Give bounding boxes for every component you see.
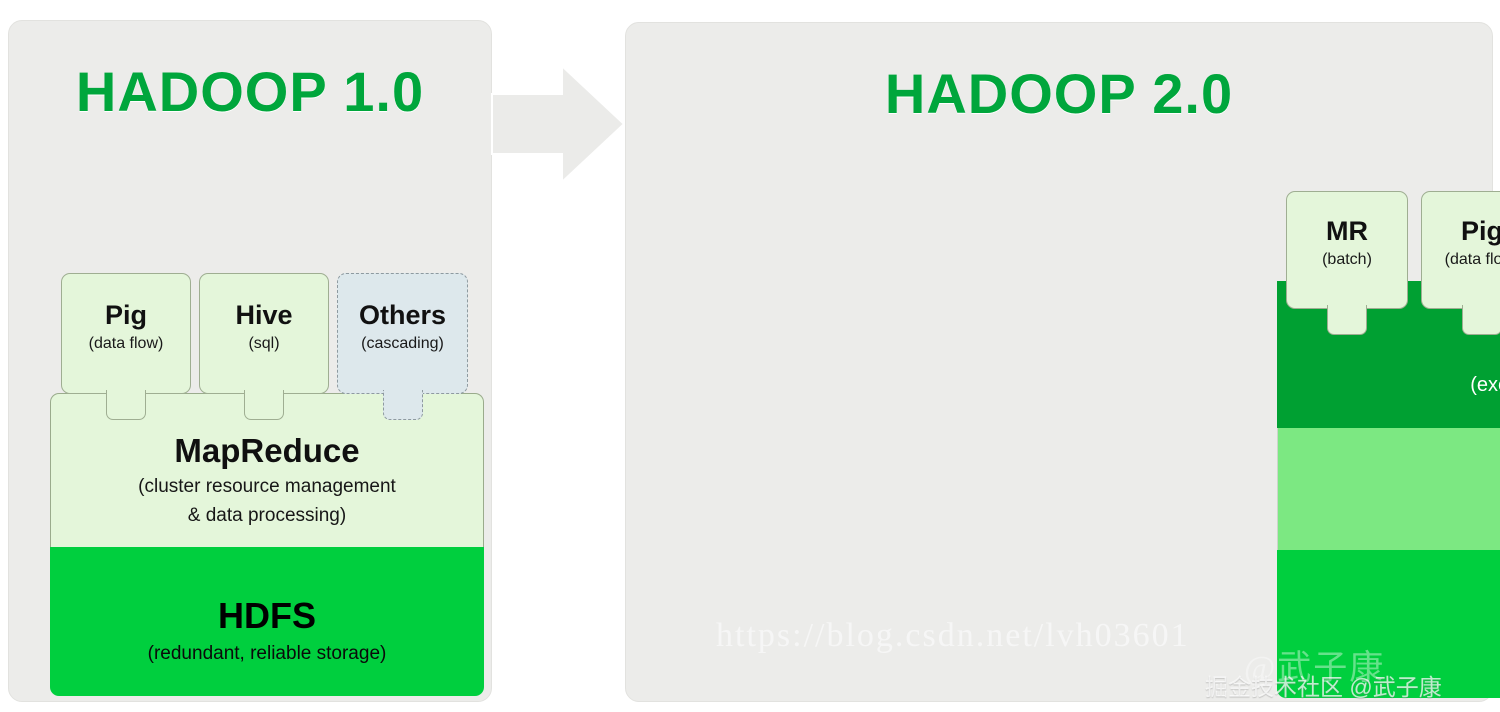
nub-mask bbox=[384, 391, 422, 395]
tile-mr-sub: (batch) bbox=[1287, 251, 1407, 269]
tile-pig-v1-sub: (data flow) bbox=[62, 335, 190, 353]
mapreduce-label: MapReduce bbox=[51, 434, 483, 469]
tile-others-v1-sub: (cascading) bbox=[338, 335, 467, 353]
hdfs-sub: (redundant, reliable storage) bbox=[50, 643, 484, 665]
hadoop-1-panel: HADOOP 1.0 MapReduce (cluster resource m… bbox=[8, 20, 492, 702]
diagram-canvas: HADOOP 1.0 MapReduce (cluster resource m… bbox=[0, 0, 1500, 712]
hadoop-2-panel: HADOOP 2.0 Tez (execution engine) YARN (… bbox=[625, 22, 1493, 702]
hdfs-label: HDFS bbox=[50, 597, 484, 635]
tile-hive-v1: Hive (sql) bbox=[199, 273, 329, 394]
tile-mr: MR (batch) bbox=[1286, 191, 1408, 309]
hadoop-1-title: HADOOP 1.0 bbox=[9, 59, 491, 124]
hadoop-2-title: HADOOP 2.0 bbox=[626, 61, 1492, 126]
tile-mr-name: MR bbox=[1287, 218, 1407, 245]
yarn-sub: (cluster resource management) bbox=[1278, 500, 1500, 524]
tile-pig-v1: Pig (data flow) bbox=[61, 273, 191, 394]
tez-sub: (execution engine) bbox=[1277, 374, 1500, 398]
mapreduce-sub-line2: & data processing) bbox=[51, 505, 483, 527]
hdfs2-label: HDFS2 bbox=[1277, 600, 1500, 638]
tile-others-v1: Others (cascading) bbox=[337, 273, 468, 394]
hdfs2-sub: (redundant, reliable storage) bbox=[1277, 646, 1500, 670]
tile-pig-v2-sub: (data flow) bbox=[1422, 251, 1500, 269]
nub-mask bbox=[245, 391, 283, 395]
right-arrow-icon bbox=[488, 60, 628, 188]
nub-mask bbox=[107, 391, 145, 395]
tile-hive-v1-name: Hive bbox=[200, 302, 328, 329]
tile-pig-v2: Pig (data flow) bbox=[1421, 191, 1500, 309]
yarn-label: YARN bbox=[1278, 454, 1500, 492]
layer-hdfs2: HDFS2 (redundant, reliable storage) bbox=[1277, 550, 1500, 698]
tile-pig-v1-name: Pig bbox=[62, 302, 190, 329]
nub-mask bbox=[1328, 306, 1366, 310]
layer-hdfs: HDFS (redundant, reliable storage) bbox=[50, 547, 484, 696]
tile-pig-v2-name: Pig bbox=[1422, 218, 1500, 245]
tez-label: Tez bbox=[1277, 333, 1500, 368]
nub-mask bbox=[1463, 306, 1500, 310]
mapreduce-sub-line1: (cluster resource management bbox=[51, 476, 483, 498]
tile-hive-v1-sub: (sql) bbox=[200, 335, 328, 353]
tile-others-v1-name: Others bbox=[338, 302, 467, 329]
layer-yarn: YARN (cluster resource management) bbox=[1277, 428, 1500, 550]
